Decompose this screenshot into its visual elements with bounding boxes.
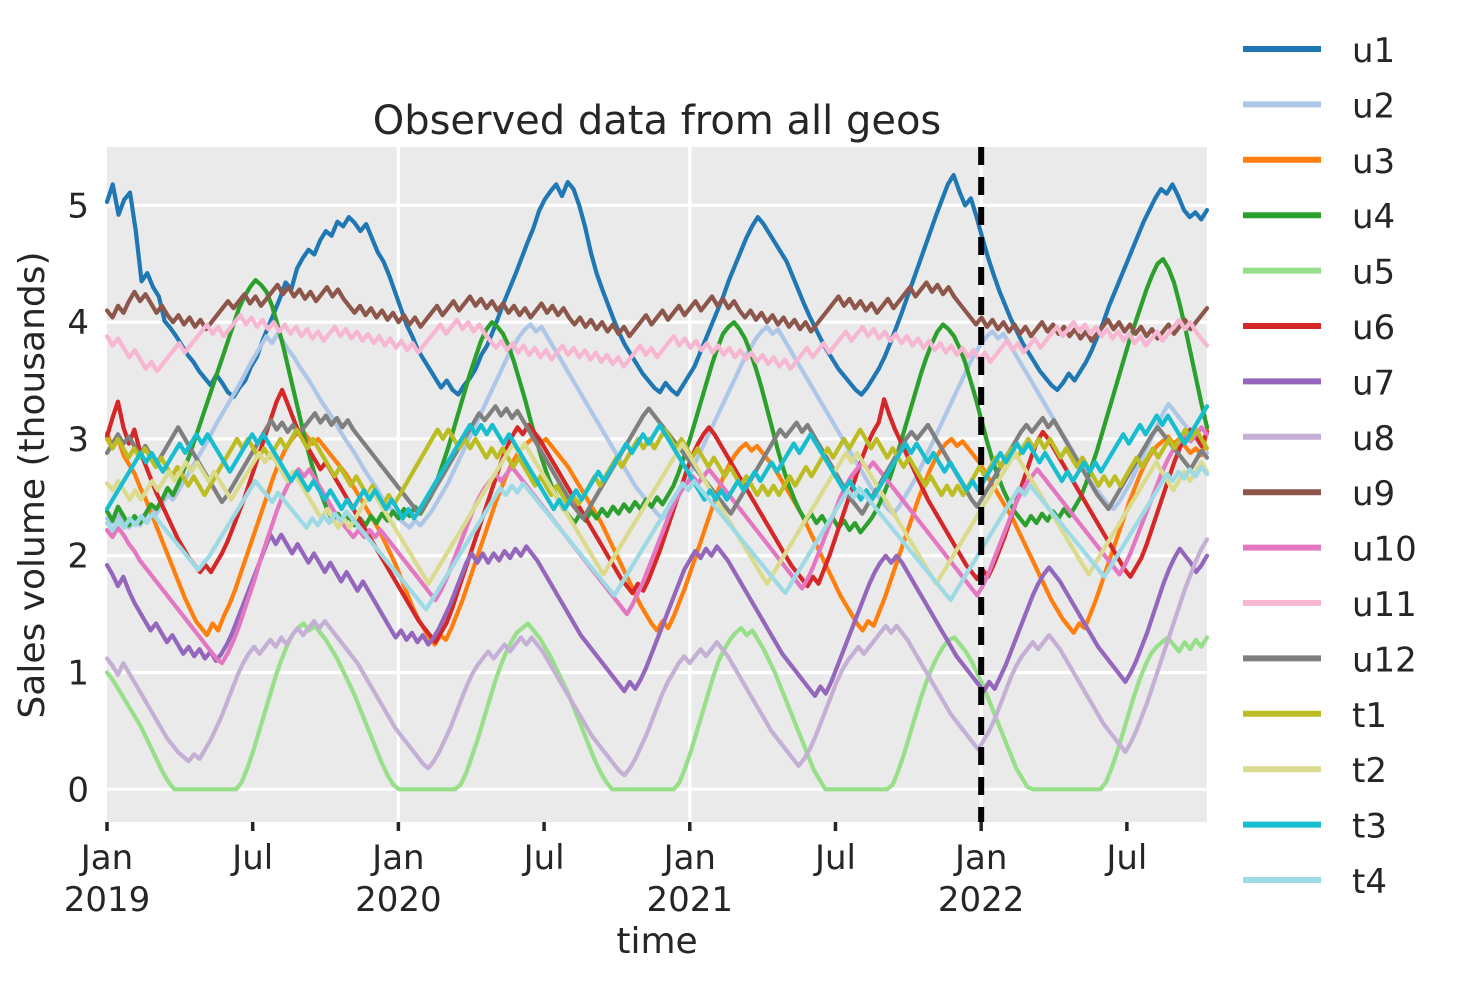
y-tick-label: 3 [67, 420, 89, 460]
y-tick-label: 0 [67, 770, 89, 810]
x-tick-labels: Jan2019JulJan2020JulJan2021JulJan2022Jul [64, 838, 1148, 920]
x-tick-label: Jul [230, 838, 273, 878]
chart-figure: Jan2019JulJan2020JulJan2021JulJan2022Jul… [0, 0, 1463, 985]
y-tick-labels: 012345 [67, 186, 89, 810]
y-axis-label: Sales volume (thousands) [12, 251, 53, 718]
x-tick-label: Jan2021 [647, 838, 734, 920]
legend-label-u1[interactable]: u1 [1352, 31, 1395, 71]
legend-label-u10[interactable]: u10 [1352, 530, 1417, 570]
y-tick-label: 5 [67, 186, 89, 226]
axis-ticks [107, 822, 1127, 831]
legend-label-t4[interactable]: t4 [1352, 862, 1387, 902]
legend-label-t3[interactable]: t3 [1352, 807, 1387, 847]
legend-label-t2[interactable]: t2 [1352, 751, 1387, 791]
legend-label-u8[interactable]: u8 [1352, 419, 1395, 459]
legend-label-u4[interactable]: u4 [1352, 197, 1395, 237]
legend-label-u2[interactable]: u2 [1352, 86, 1395, 126]
legend-label-u5[interactable]: u5 [1352, 253, 1395, 293]
legend-label-u9[interactable]: u9 [1352, 474, 1395, 514]
legend-label-u6[interactable]: u6 [1352, 308, 1395, 348]
legend-label-t1[interactable]: t1 [1352, 696, 1387, 736]
legend-label-u7[interactable]: u7 [1352, 363, 1395, 403]
chart-title: Observed data from all geos [373, 98, 942, 144]
x-tick-label: Jul [1104, 838, 1147, 878]
y-tick-label: 4 [67, 303, 89, 343]
chart-legend[interactable]: u1u2u3u4u5u6u7u8u9u10u11u12t1t2t3t4 [1243, 31, 1417, 902]
x-tick-label: Jul [813, 838, 856, 878]
legend-label-u3[interactable]: u3 [1352, 142, 1395, 182]
y-tick-label: 2 [67, 537, 89, 577]
y-tick-label: 1 [67, 654, 89, 694]
x-tick-label: Jan2019 [64, 838, 151, 920]
x-axis-label: time [616, 921, 697, 962]
legend-label-u11[interactable]: u11 [1352, 585, 1417, 625]
x-tick-label: Jan2022 [938, 838, 1025, 920]
x-tick-label: Jan2020 [355, 838, 442, 920]
line-chart[interactable]: Jan2019JulJan2020JulJan2021JulJan2022Jul… [0, 0, 1463, 985]
x-tick-label: Jul [522, 838, 565, 878]
legend-label-u12[interactable]: u12 [1352, 640, 1417, 680]
